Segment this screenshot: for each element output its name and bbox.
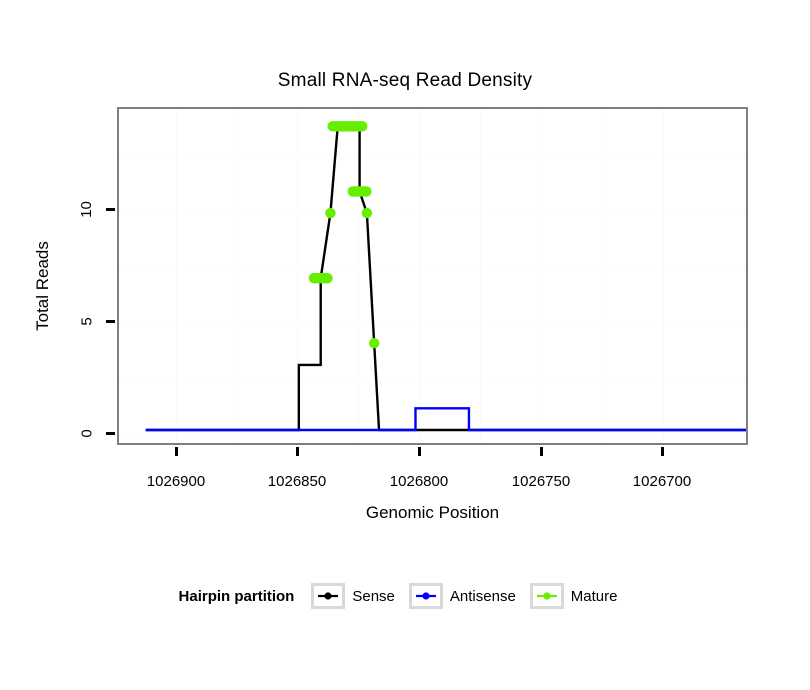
y-tick-mark-5 — [106, 320, 115, 323]
y-tick-label-0: 0 — [79, 429, 96, 437]
legend-key-antisense — [409, 583, 443, 609]
x-tick-label-1026750: 1026750 — [512, 473, 570, 490]
plot-panel — [117, 107, 748, 445]
mature-marker — [327, 121, 367, 131]
series-line-antisense — [146, 408, 746, 430]
legend-label-sense: Sense — [352, 588, 395, 605]
mature-marker — [369, 338, 379, 348]
legend-title: Hairpin partition — [179, 588, 295, 605]
legend-key-mature — [530, 583, 564, 609]
legend: Hairpin partition Sense Antisense — [0, 583, 810, 609]
y-tick-mark-10 — [106, 208, 115, 211]
x-tick-mark-1026750 — [540, 447, 543, 456]
y-axis-title: Total Reads — [33, 206, 53, 366]
x-tick-mark-1026850 — [296, 447, 299, 456]
x-tick-mark-1026800 — [418, 447, 421, 456]
mature-marker — [348, 186, 372, 196]
mature-marker — [309, 273, 333, 283]
mature-marker — [325, 208, 335, 218]
x-tick-mark-1026700 — [661, 447, 664, 456]
legend-item-sense[interactable]: Sense — [311, 583, 395, 609]
x-tick-label-1026700: 1026700 — [633, 473, 691, 490]
x-tick-mark-1026900 — [175, 447, 178, 456]
x-tick-label-1026800: 1026800 — [390, 473, 448, 490]
plot-area — [119, 109, 746, 443]
legend-label-antisense: Antisense — [450, 588, 516, 605]
legend-label-mature: Mature — [571, 588, 618, 605]
page-title: Small RNA-seq Read Density — [0, 70, 810, 92]
x-tick-label-1026850: 1026850 — [268, 473, 326, 490]
legend-item-antisense[interactable]: Antisense — [409, 583, 516, 609]
data-series-layer — [119, 109, 746, 443]
series-line-sense — [146, 126, 746, 430]
legend-item-mature[interactable]: Mature — [530, 583, 618, 609]
y-tick-mark-0 — [106, 432, 115, 435]
y-tick-label-10: 10 — [78, 201, 95, 218]
x-axis-title: Genomic Position — [117, 503, 748, 523]
y-tick-label-5: 5 — [79, 317, 96, 325]
x-tick-label-1026900: 1026900 — [147, 473, 205, 490]
chart-root: Small RNA-seq Read Density 10 5 — [0, 0, 810, 690]
mature-marker — [362, 208, 372, 218]
legend-key-sense — [311, 583, 345, 609]
